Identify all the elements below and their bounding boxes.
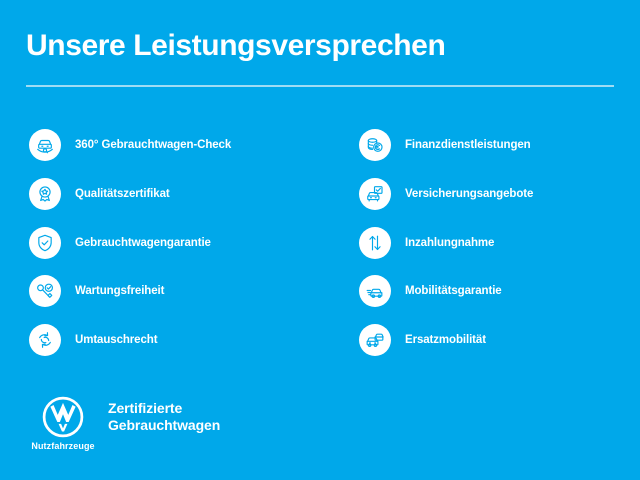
- benefit-item-mobilitaetsgarantie[interactable]: Mobilitätsgarantie: [359, 267, 629, 316]
- benefit-item-umtauschrecht[interactable]: Umtauschrecht: [29, 316, 359, 365]
- coins-euro-icon: [359, 129, 391, 161]
- car-speed-icon: [359, 275, 391, 307]
- brand-claim-line1: Zertifizierte: [108, 400, 220, 417]
- benefits-left-column: 360° Gebrauchtwagen-Check Qualitätszerti…: [29, 121, 359, 364]
- exchange-arrows-icon: [29, 324, 61, 356]
- brand-mark: Nutzfahrzeuge: [30, 396, 96, 451]
- car-inspection-icon: [29, 129, 61, 161]
- page-title: Unsere Leistungsversprechen: [26, 28, 614, 64]
- vw-logo-icon: [42, 396, 84, 438]
- benefit-item-gebrauchtwagengarantie[interactable]: Gebrauchtwagengarantie: [29, 218, 359, 267]
- benefits-right-column: Finanzdienstleistungen Versicheru: [359, 121, 629, 364]
- benefit-label: Mobilitätsgarantie: [405, 285, 502, 297]
- benefit-label: Wartungsfreiheit: [75, 285, 164, 297]
- wrench-check-icon: [29, 275, 61, 307]
- brand-claim-line2: Gebrauchtwagen: [108, 417, 220, 434]
- benefit-label: Gebrauchtwagengarantie: [75, 237, 211, 249]
- shield-check-icon: [29, 227, 61, 259]
- brand-sub-label: Nutzfahrzeuge: [31, 441, 94, 451]
- header: Unsere Leistungsversprechen: [26, 28, 614, 64]
- benefit-item-finanzdienstleistungen[interactable]: Finanzdienstleistungen: [359, 121, 629, 170]
- benefit-label: Qualitätszertifikat: [75, 188, 170, 200]
- benefit-label: Finanzdienstleistungen: [405, 139, 531, 151]
- award-seal-icon: [29, 178, 61, 210]
- benefit-item-ersatzmobilitaet[interactable]: Ersatzmobilität: [359, 316, 629, 365]
- benefit-item-qualitaetszertifikat[interactable]: Qualitätszertifikat: [29, 170, 359, 219]
- two-cars-icon: [359, 324, 391, 356]
- benefit-item-wartungsfreiheit[interactable]: Wartungsfreiheit: [29, 267, 359, 316]
- brand-claim: Zertifizierte Gebrauchtwagen: [108, 400, 220, 434]
- car-document-check-icon: [359, 178, 391, 210]
- benefit-label: Umtauschrecht: [75, 334, 157, 346]
- up-down-arrows-icon: [359, 227, 391, 259]
- benefit-label: Versicherungsangebote: [405, 188, 533, 200]
- benefit-label: Inzahlungnahme: [405, 237, 494, 249]
- benefit-label: Ersatzmobilität: [405, 334, 486, 346]
- slide-root: Unsere Leistungsversprechen 360°: [0, 0, 640, 480]
- footer-brand: Nutzfahrzeuge Zertifizierte Gebrauchtwag…: [30, 396, 220, 451]
- benefit-item-gebrauchtwagen-check[interactable]: 360° Gebrauchtwagen-Check: [29, 121, 359, 170]
- benefit-label: 360° Gebrauchtwagen-Check: [75, 139, 231, 151]
- benefit-item-inzahlungnahme[interactable]: Inzahlungnahme: [359, 218, 629, 267]
- benefits-columns: 360° Gebrauchtwagen-Check Qualitätszerti…: [0, 121, 640, 364]
- benefit-item-versicherungsangebote[interactable]: Versicherungsangebote: [359, 170, 629, 219]
- title-divider: [26, 85, 614, 87]
